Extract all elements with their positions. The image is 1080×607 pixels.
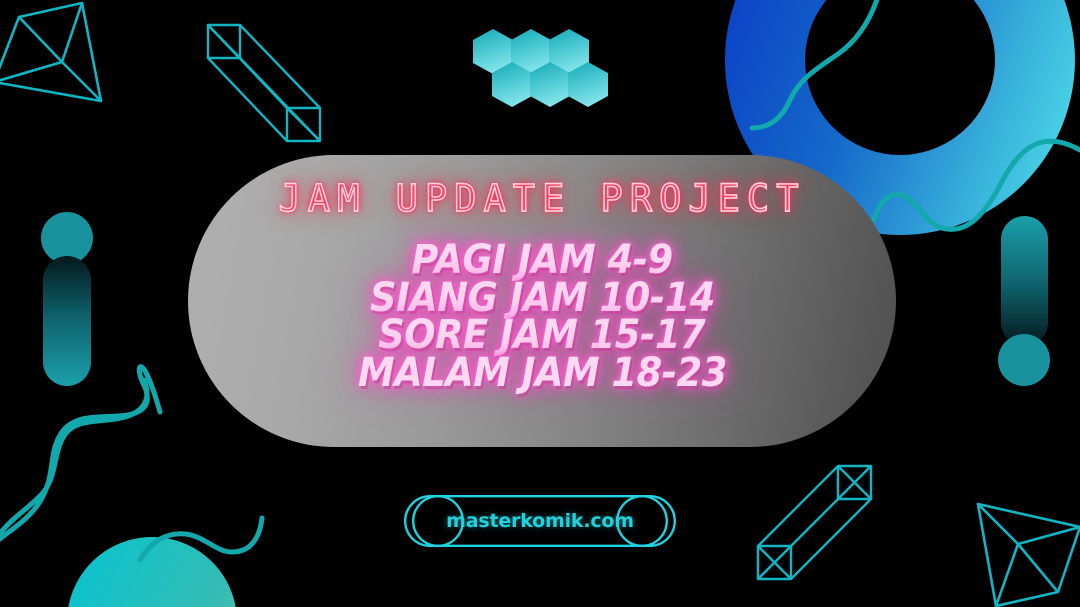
page-title: JAM UPDATE PROJECT bbox=[279, 177, 806, 220]
wireframe-prism-top-left-icon bbox=[208, 25, 320, 141]
wave-line-top-right bbox=[845, 141, 1080, 238]
wave-line-bottom-left-mid bbox=[140, 518, 262, 560]
wireframe-prism-bottom-right-icon bbox=[758, 466, 871, 579]
main-info-card: JAM UPDATE PROJECT PAGI JAM 4-9 SIANG JA… bbox=[188, 155, 896, 447]
wave-line-bottom-left-top bbox=[0, 380, 147, 540]
wireframe-tetrahedron-bottom-right-icon bbox=[978, 504, 1080, 606]
wireframe-tetrahedron-top-left-icon bbox=[0, 3, 101, 101]
exclamation-left-icon bbox=[41, 212, 93, 386]
poster-canvas: JAM UPDATE PROJECT PAGI JAM 4-9 SIANG JA… bbox=[0, 0, 1080, 607]
wave-line-top-right-upper bbox=[752, 0, 880, 128]
schedule-list: PAGI JAM 4-9 SIANG JAM 10-14 SORE JAM 15… bbox=[342, 242, 743, 392]
exclamation-right-icon bbox=[998, 216, 1050, 386]
donut-ring-bottom-left bbox=[0, 537, 317, 607]
hexagon-cluster-icon bbox=[473, 29, 608, 107]
page-title-text: JAM UPDATE PROJECT bbox=[279, 177, 806, 220]
wave-line-bottom-left bbox=[0, 367, 160, 545]
footer-website-text: masterkomik.com bbox=[446, 510, 634, 532]
schedule-item-malam: MALAM JAM 18-23 bbox=[358, 355, 727, 393]
footer-website-pill[interactable]: masterkomik.com bbox=[404, 495, 676, 547]
